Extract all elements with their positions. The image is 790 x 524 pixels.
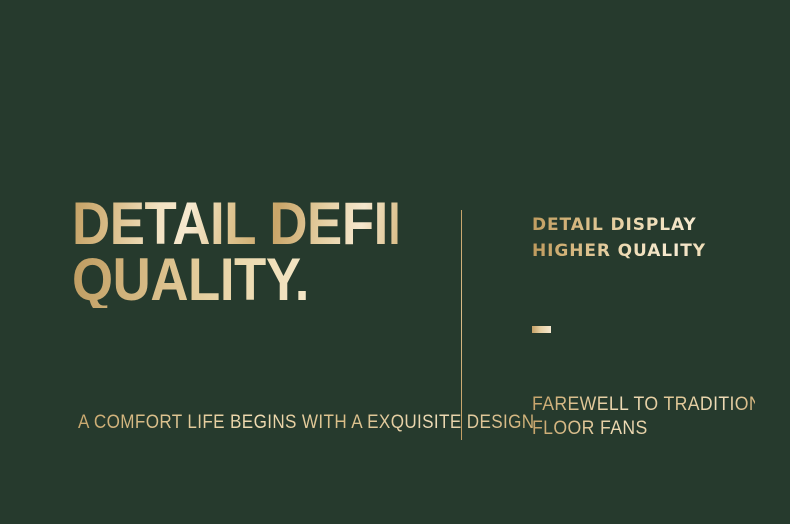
section-heading-line-2: HIGHER QUALITY	[532, 238, 762, 264]
headline-line-1: DETAIL DEFINE	[72, 196, 398, 252]
right-content-block: DETAIL DISPLAY HIGHER QUALITY	[532, 212, 762, 264]
vertical-divider	[461, 210, 462, 440]
tagline-line-1: FAREWELL TO TRADITIONAL	[532, 393, 755, 417]
poster-canvas: DETAIL DEFINE QUALITY. A COMFORT LIFE BE…	[0, 0, 790, 524]
headline-line-2: QUALITY.	[72, 252, 398, 308]
section-heading-line-1: DETAIL DISPLAY	[532, 212, 762, 238]
tagline-line-2: FLOOR FANS	[532, 417, 755, 441]
subtitle-text: A COMFORT LIFE BEGINS WITH A EXQUISITE D…	[78, 411, 534, 435]
section-heading: DETAIL DISPLAY HIGHER QUALITY	[532, 212, 762, 264]
page-title: DETAIL DEFINE QUALITY.	[72, 196, 398, 308]
dash-divider-icon	[532, 326, 551, 333]
tagline-text: FAREWELL TO TRADITIONAL FLOOR FANS	[532, 393, 755, 441]
left-content-block: DETAIL DEFINE QUALITY.	[72, 196, 442, 308]
